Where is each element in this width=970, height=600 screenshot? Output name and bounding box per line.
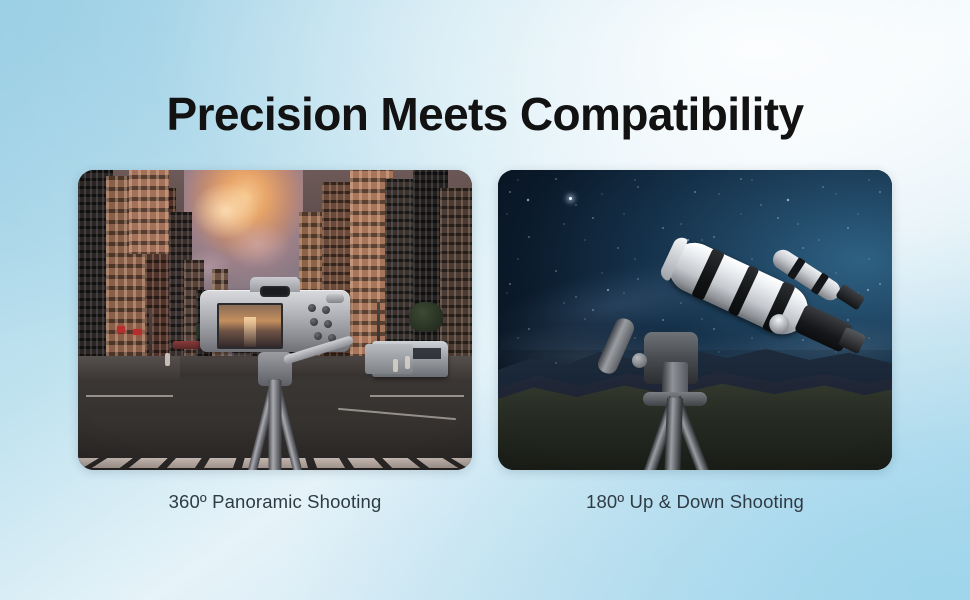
mount-adjust-knob <box>632 353 647 368</box>
camera-buttons <box>308 304 342 344</box>
starry-night-photo <box>498 170 892 470</box>
pedestrian <box>165 353 170 366</box>
finder-ring <box>788 257 807 280</box>
bright-star <box>569 197 572 200</box>
promo-banner: Precision Meets Compatibility <box>0 0 970 600</box>
camera-lcd-screen <box>217 303 283 349</box>
dslr-camera-rig <box>200 290 350 386</box>
street-sign <box>133 329 142 335</box>
lane-marking <box>370 395 465 397</box>
caption-updown: 180º Up & Down Shooting <box>498 490 892 520</box>
tripod-head <box>258 352 292 386</box>
camera-dial <box>326 294 344 303</box>
caption-panoramic: 360º Panoramic Shooting <box>78 490 472 520</box>
finder-ring <box>811 272 830 295</box>
tripod-leg <box>664 398 683 470</box>
tree <box>409 302 443 332</box>
tube-ring <box>692 248 726 301</box>
street-sign <box>117 326 125 333</box>
feature-card-updown <box>498 170 892 470</box>
viewfinder-eyecup <box>260 286 290 297</box>
feature-card-row <box>78 170 892 470</box>
pedestrian <box>393 359 398 372</box>
tube-ring <box>728 265 760 317</box>
caption-row: 360º Panoramic Shooting 180º Up & Down S… <box>78 490 892 520</box>
city-street-photo <box>78 170 472 470</box>
tripod-center-column <box>269 380 282 470</box>
building <box>129 170 168 254</box>
feature-card-panoramic <box>78 170 472 470</box>
lane-marking <box>338 408 456 420</box>
lane-marking <box>86 395 173 397</box>
page-title: Precision Meets Compatibility <box>0 86 970 142</box>
pedestrian <box>405 356 410 369</box>
